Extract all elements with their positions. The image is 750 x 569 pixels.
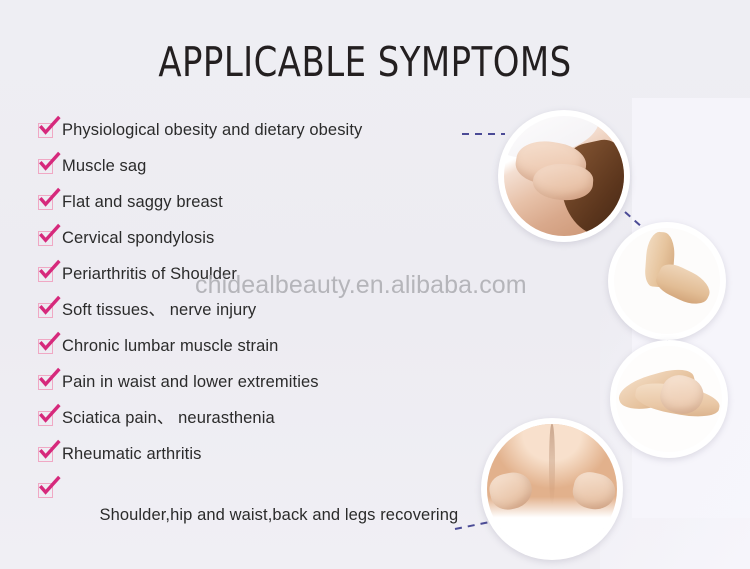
list-item-label: Shoulder,hip and waist,back and legs rec… [99, 506, 458, 524]
list-item-label: Soft tissues、 nerve injury [62, 298, 256, 323]
photo-arm [614, 228, 720, 334]
list-item-label: Muscle sag [62, 154, 146, 179]
promo-banner: APPLICABLE SYMPTOMS Physiological obesit… [0, 0, 750, 569]
checkbox-icon[interactable] [38, 303, 53, 318]
check-mark-icon [38, 189, 60, 209]
list-item[interactable]: Muscle sag [38, 154, 508, 179]
list-item-label: Rheumatic arthritis [62, 442, 201, 467]
photo-bubble-shoulder-massage [498, 110, 630, 242]
check-mark-icon [38, 441, 60, 461]
checkbox-icon[interactable] [38, 447, 53, 462]
photo-lower-back [487, 424, 617, 554]
check-mark-icon [38, 117, 60, 137]
list-item[interactable]: Periarthritis of Shoulder [38, 262, 508, 287]
photo-bubble-lower-back [481, 418, 623, 560]
list-item-label: Flat and saggy breast [62, 190, 223, 215]
checkbox-icon[interactable] [38, 267, 53, 282]
photo-shoulder-massage [504, 116, 624, 236]
photo-art-back [487, 424, 617, 554]
checkbox-icon[interactable] [38, 195, 53, 210]
checkbox-icon[interactable] [38, 483, 53, 498]
spine-shape [549, 424, 554, 505]
list-item-label: Chronic lumbar muscle strain [62, 334, 278, 359]
list-item[interactable]: Sciatica pain、 neurasthenia [38, 406, 508, 431]
list-item-label-wrapped: Shoulder,hip and waist,back and legs rec… [62, 478, 458, 569]
checkbox-icon[interactable] [38, 411, 53, 426]
list-item-label: Physiological obesity and dietary obesit… [62, 118, 362, 143]
forearm-shape [653, 260, 716, 311]
check-mark-icon [38, 297, 60, 317]
list-item-label: Pain in waist and lower extremities [62, 370, 319, 395]
check-mark-icon [38, 333, 60, 353]
list-item[interactable]: Pain in waist and lower extremities [38, 370, 508, 395]
photo-art-arm [614, 228, 720, 334]
check-mark-icon [38, 405, 60, 425]
check-mark-icon [38, 261, 60, 281]
photo-art-shoulder [504, 116, 624, 236]
list-item-label: Periarthritis of Shoulder [62, 262, 237, 287]
list-item[interactable]: Flat and saggy breast [38, 190, 508, 215]
list-item-label: Cervical spondylosis [62, 226, 214, 251]
list-item-label-line2: therapy [62, 565, 458, 569]
photo-bubble-legs [610, 340, 728, 458]
list-item[interactable]: Cervical spondylosis [38, 226, 508, 251]
photo-bubble-arm [608, 222, 726, 340]
check-mark-icon [38, 477, 60, 497]
checkbox-icon[interactable] [38, 375, 53, 390]
list-item[interactable]: Shoulder,hip and waist,back and legs rec… [38, 478, 508, 569]
checkbox-icon[interactable] [38, 231, 53, 246]
list-item[interactable]: Soft tissues、 nerve injury [38, 298, 508, 323]
list-item-label: Sciatica pain、 neurasthenia [62, 406, 275, 431]
check-mark-icon [38, 225, 60, 245]
checkbox-icon[interactable] [38, 159, 53, 174]
list-item[interactable]: Rheumatic arthritis [38, 442, 508, 467]
symptom-list: Physiological obesity and dietary obesit… [38, 118, 508, 569]
photo-legs [616, 346, 722, 452]
photo-art-legs [616, 346, 722, 452]
checkbox-icon[interactable] [38, 123, 53, 138]
check-mark-icon [38, 153, 60, 173]
check-mark-icon [38, 369, 60, 389]
list-item[interactable]: Chronic lumbar muscle strain [38, 334, 508, 359]
checkbox-icon[interactable] [38, 339, 53, 354]
list-item[interactable]: Physiological obesity and dietary obesit… [38, 118, 508, 143]
